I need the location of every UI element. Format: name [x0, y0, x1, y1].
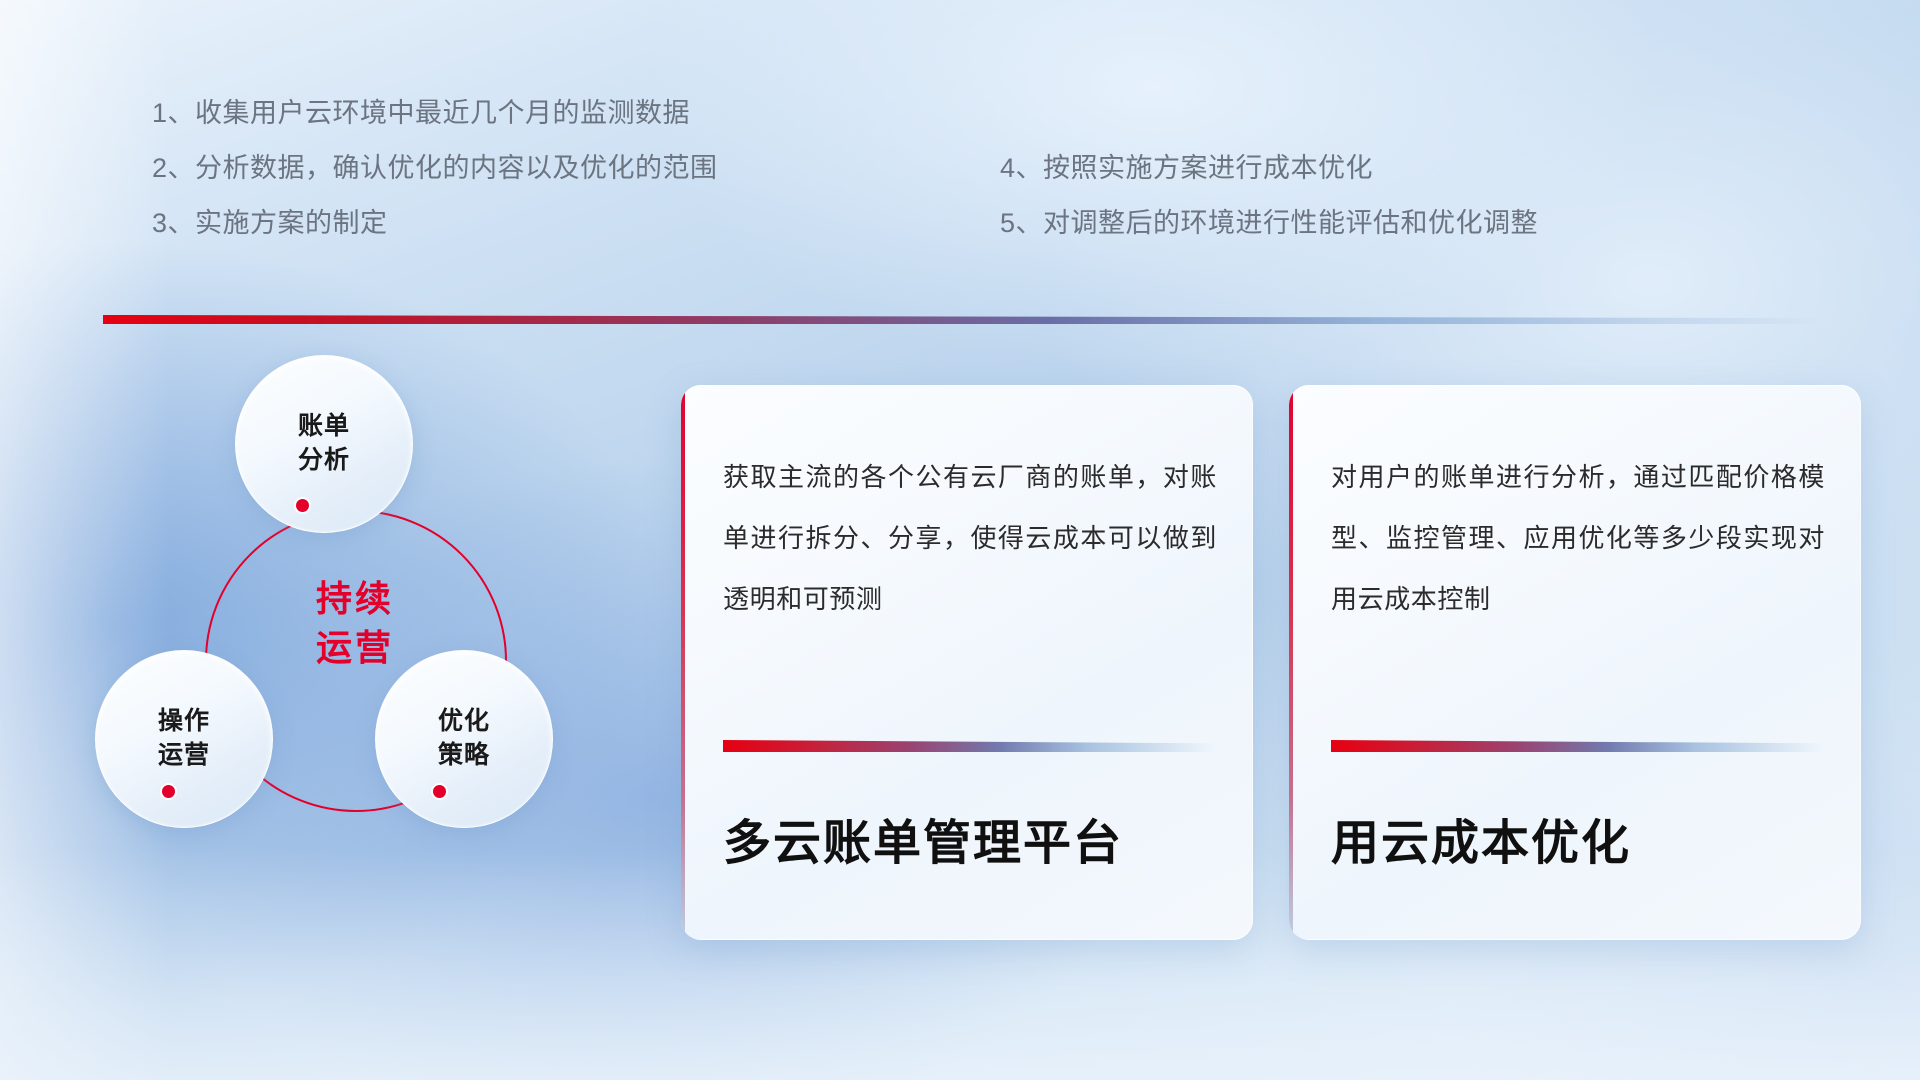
step-item: 3、实施方案的制定 [152, 210, 718, 237]
diagram-bubble-optimization-strategy[interactable]: 优化 策略 [375, 650, 553, 828]
diagram-node-dot-bottom-left [162, 785, 175, 798]
bubble-label: 优化 策略 [438, 705, 490, 773]
card-accent-rule [1331, 740, 1823, 752]
bubble-label: 操作 运营 [158, 705, 210, 773]
diagram-bubble-operations[interactable]: 操作 运营 [95, 650, 273, 828]
feature-card-cloud-cost-optimization[interactable]: 对用户的账单进行分析，通过匹配价格模型、监控管理、应用优化等多少段实现对用云成本… [1289, 385, 1861, 940]
step-item: 2、分析数据，确认优化的内容以及优化的范围 [152, 155, 718, 182]
card-title: 多云账单管理平台 [723, 803, 1223, 873]
feature-card-multicloud-billing[interactable]: 获取主流的各个公有云厂商的账单，对账单进行拆分、分享，使得云成本可以做到透明和可… [681, 385, 1253, 940]
step-item: 4、按照实施方案进行成本优化 [1000, 155, 1538, 182]
diagram-bubble-bill-analysis[interactable]: 账单 分析 [235, 355, 413, 533]
cycle-diagram: 账单 分析 操作 运营 优化 策略 持续 运营 [95, 355, 615, 925]
card-accent-rule [723, 740, 1215, 752]
diagram-center-label: 持续 运营 [205, 575, 505, 672]
card-title: 用云成本优化 [1331, 803, 1831, 873]
step-item: 1、收集用户云环境中最近几个月的监测数据 [152, 100, 718, 127]
bubble-label: 账单 分析 [298, 410, 350, 478]
card-body-text: 获取主流的各个公有云厂商的账单，对账单进行拆分、分享，使得云成本可以做到透明和可… [723, 447, 1217, 630]
diagram-node-dot-bottom-right [433, 785, 446, 798]
steps-list-left: 1、收集用户云环境中最近几个月的监测数据 2、分析数据，确认优化的内容以及优化的… [152, 100, 718, 265]
diagram-node-dot-top [296, 499, 309, 512]
card-body-text: 对用户的账单进行分析，通过匹配价格模型、监控管理、应用优化等多少段实现对用云成本… [1331, 447, 1825, 630]
step-item: 5、对调整后的环境进行性能评估和优化调整 [1000, 210, 1538, 237]
steps-list-right: 4、按照实施方案进行成本优化 5、对调整后的环境进行性能评估和优化调整 [1000, 155, 1538, 265]
